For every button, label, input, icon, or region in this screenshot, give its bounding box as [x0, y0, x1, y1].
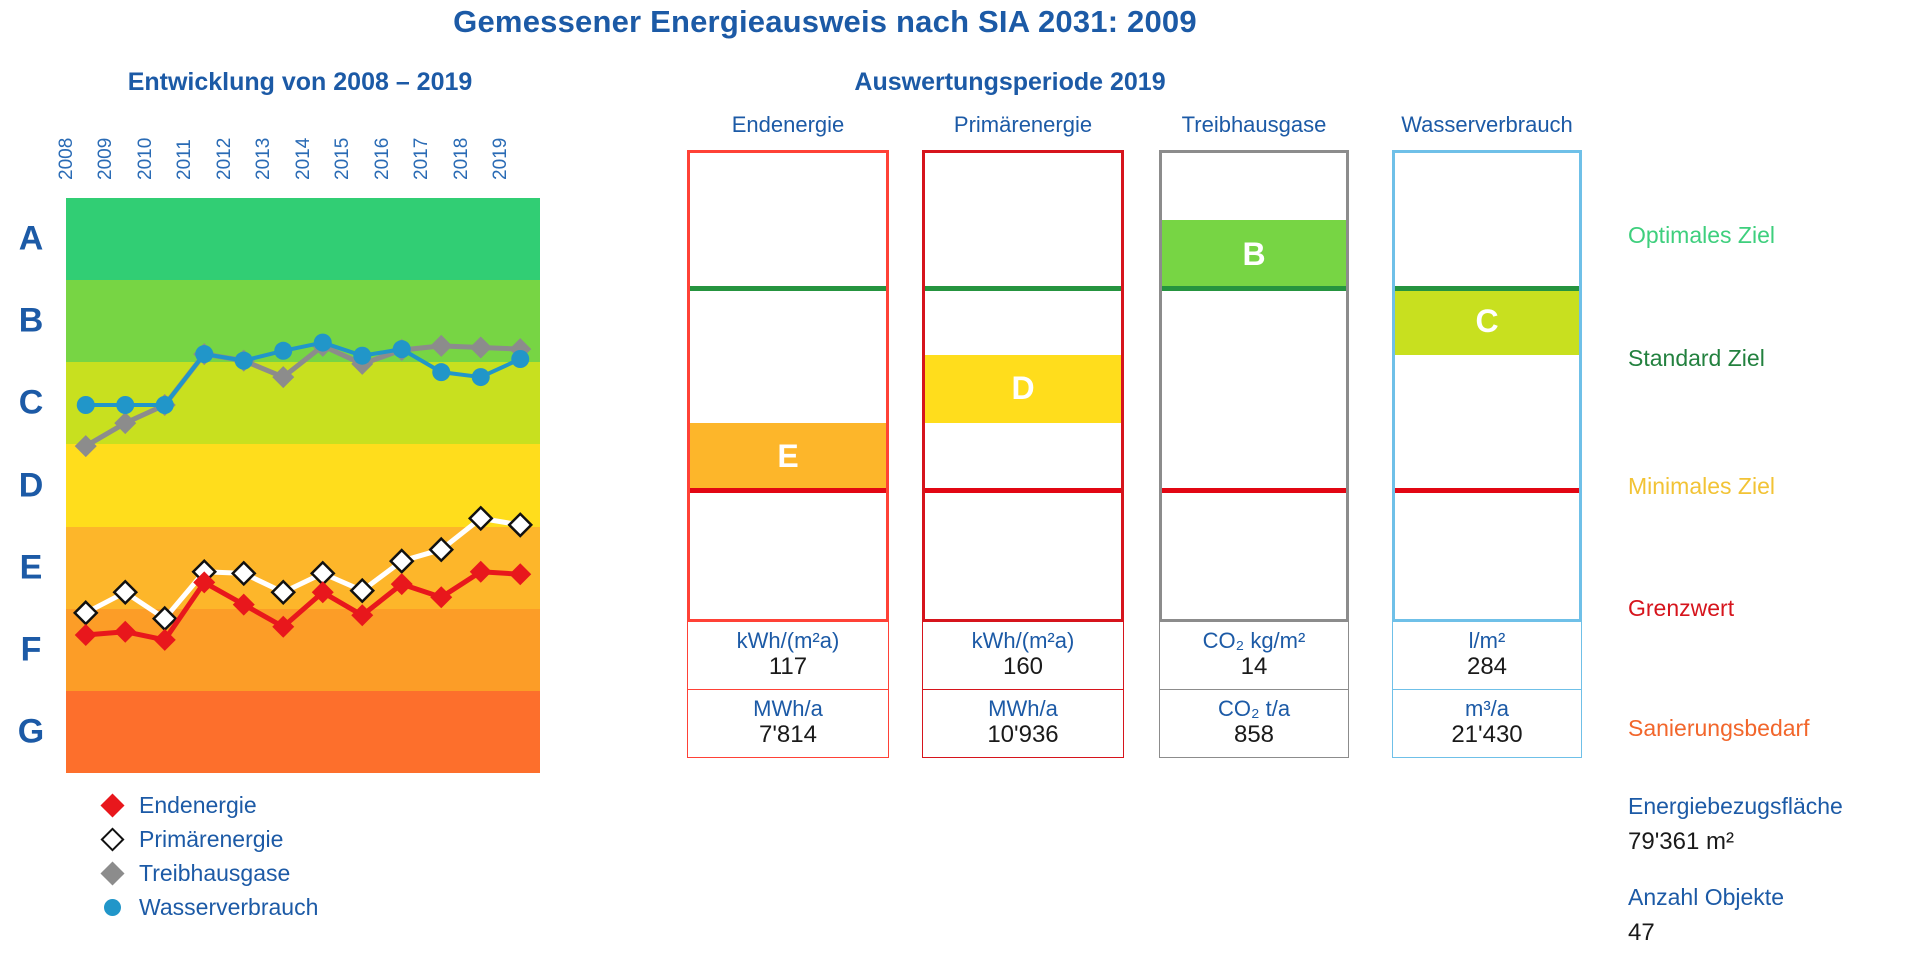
value-box-primary: CO₂ kg/m²14: [1159, 622, 1349, 690]
rating-grade-marker: C: [1395, 288, 1579, 355]
value-box-primary: kWh/(m²a)117: [687, 622, 889, 690]
data-point: [235, 352, 253, 370]
energy-area-value: 79'361 m²: [1628, 828, 1734, 856]
legend-item-endenergie: Endenergie: [95, 788, 318, 822]
legend-item-wasserverbrauch: Wasserverbrauch: [95, 890, 318, 924]
legend-item-label: Treibhausgase: [139, 860, 290, 887]
year-label-2011: 2011: [174, 139, 196, 180]
filled-diamond-red-icon: [95, 797, 129, 814]
right-panel-subtitle: Auswertungsperiode 2019: [690, 68, 1330, 97]
target-label-optimales-ziel: Optimales Ziel: [1628, 222, 1775, 249]
series-legend: EndenergiePrimärenergieTreibhausgaseWass…: [95, 788, 318, 924]
value-number: 858: [1160, 721, 1348, 749]
legend-item-prim-renergie: Primärenergie: [95, 822, 318, 856]
data-point: [116, 396, 134, 414]
grade-label-g: G: [0, 712, 62, 751]
limit-value-line: [1162, 488, 1346, 493]
data-point: [233, 594, 255, 616]
rating-column-prim-renergie: PrimärenergieDkWh/(m²a)160MWh/a10'936: [922, 150, 1124, 758]
year-label-2013: 2013: [253, 138, 275, 180]
grade-label-c: C: [0, 384, 62, 423]
trend-series-overlay: [66, 198, 540, 773]
grade-label-e: E: [0, 548, 62, 587]
data-point: [156, 396, 174, 414]
open-diamond-white-icon: [95, 831, 129, 848]
rating-column-title: Primärenergie: [954, 112, 1092, 138]
object-count-value: 47: [1628, 919, 1655, 947]
value-box-primary: kWh/(m²a)160: [922, 622, 1124, 690]
year-label-2015: 2015: [332, 138, 354, 180]
data-point: [511, 350, 529, 368]
data-point: [470, 337, 492, 359]
rating-column-title: Treibhausgase: [1182, 112, 1327, 138]
data-point: [393, 340, 411, 358]
data-point: [314, 334, 332, 352]
value-box-secondary: MWh/a7'814: [687, 690, 889, 758]
data-point: [472, 368, 490, 386]
rating-scale-box: D: [922, 150, 1124, 622]
target-label-grenzwert: Grenzwert: [1628, 595, 1734, 622]
legend-item-label: Wasserverbrauch: [139, 894, 318, 921]
rating-column-endenergie: EndenergieEkWh/(m²a)117MWh/a7'814: [687, 150, 889, 758]
year-label-2008: 2008: [56, 138, 78, 180]
year-label-2016: 2016: [372, 138, 394, 180]
standard-target-line: [925, 286, 1121, 291]
series-treibhausgase: [75, 335, 532, 457]
value-unit: l/m²: [1393, 628, 1581, 653]
rating-column-title: Wasserverbrauch: [1401, 112, 1573, 138]
grade-scale: ABCDEFG: [0, 198, 62, 773]
year-label-2009: 2009: [95, 138, 117, 180]
value-number: 10'936: [923, 721, 1123, 749]
data-point: [114, 621, 136, 643]
energy-area-label: Energiebezugsfläche: [1628, 793, 1843, 820]
object-count-label: Anzahl Objekte: [1628, 884, 1784, 911]
value-unit: CO₂ kg/m²: [1160, 628, 1348, 653]
data-point: [432, 363, 450, 381]
data-point: [75, 624, 97, 646]
standard-target-line: [1395, 286, 1579, 291]
value-unit: MWh/a: [688, 696, 888, 721]
data-point: [77, 396, 95, 414]
grade-label-d: D: [0, 466, 62, 505]
data-point: [114, 412, 136, 434]
data-point: [430, 335, 452, 357]
value-number: 160: [923, 653, 1123, 681]
target-label-minimales-ziel: Minimales Ziel: [1628, 473, 1775, 500]
standard-target-line: [690, 286, 886, 291]
grade-label-f: F: [0, 630, 62, 669]
data-point: [195, 345, 213, 363]
grade-label-a: A: [0, 220, 62, 259]
year-label-2018: 2018: [451, 138, 473, 180]
data-point: [274, 342, 292, 360]
data-point: [272, 581, 294, 603]
legend-item-label: Primärenergie: [139, 826, 283, 853]
year-label-2017: 2017: [411, 138, 433, 180]
standard-target-line: [1162, 286, 1346, 291]
value-unit: kWh/(m²a): [923, 628, 1123, 653]
rating-column-title: Endenergie: [732, 112, 845, 138]
filled-diamond-gray-icon: [95, 865, 129, 882]
page-title: Gemessener Energieausweis nach SIA 2031:…: [0, 4, 1650, 40]
rating-grade-marker: D: [925, 355, 1121, 422]
data-point: [509, 514, 531, 536]
limit-value-line: [1395, 488, 1579, 493]
target-label-standard-ziel: Standard Ziel: [1628, 345, 1765, 372]
value-unit: CO₂ t/a: [1160, 696, 1348, 721]
value-number: 284: [1393, 653, 1581, 681]
year-label-2012: 2012: [214, 138, 236, 180]
value-number: 21'430: [1393, 721, 1581, 749]
value-box-secondary: CO₂ t/a858: [1159, 690, 1349, 758]
value-number: 117: [688, 653, 888, 681]
limit-value-line: [690, 488, 886, 493]
target-label-sanierungsbedarf: Sanierungsbedarf: [1628, 715, 1810, 742]
value-number: 7'814: [688, 721, 888, 749]
rating-scale-box: C: [1392, 150, 1582, 622]
limit-value-line: [925, 488, 1121, 493]
legend-item-label: Endenergie: [139, 792, 257, 819]
value-box-secondary: m³/a21'430: [1392, 690, 1582, 758]
year-axis: 2008200920102011201220132014201520162017…: [66, 118, 540, 180]
rating-grade-marker: E: [690, 423, 886, 490]
data-point: [75, 435, 97, 457]
value-box-secondary: MWh/a10'936: [922, 690, 1124, 758]
year-label-2010: 2010: [135, 138, 157, 180]
rating-column-wasserverbrauch: WasserverbrauchCl/m²284m³/a21'430: [1392, 150, 1582, 758]
data-point: [233, 562, 255, 584]
year-label-2019: 2019: [490, 138, 512, 180]
data-point: [353, 347, 371, 365]
left-chart-subtitle: Entwicklung von 2008 – 2019: [55, 68, 545, 97]
value-number: 14: [1160, 653, 1348, 681]
year-label-2014: 2014: [293, 138, 315, 180]
rating-column-treibhausgase: TreibhausgaseBCO₂ kg/m²14CO₂ t/a858: [1159, 150, 1349, 758]
value-box-primary: l/m²284: [1392, 622, 1582, 690]
value-unit: MWh/a: [923, 696, 1123, 721]
data-point: [75, 602, 97, 624]
rating-scale-box: E: [687, 150, 889, 622]
data-point: [509, 563, 531, 585]
value-unit: m³/a: [1393, 696, 1581, 721]
value-unit: kWh/(m²a): [688, 628, 888, 653]
rating-grade-marker: B: [1162, 220, 1346, 287]
rating-scale-box: B: [1159, 150, 1349, 622]
filled-circle-blue-icon: [95, 899, 129, 916]
data-point: [312, 562, 334, 584]
grade-label-b: B: [0, 302, 62, 341]
legend-item-treibhausgase: Treibhausgase: [95, 856, 318, 890]
